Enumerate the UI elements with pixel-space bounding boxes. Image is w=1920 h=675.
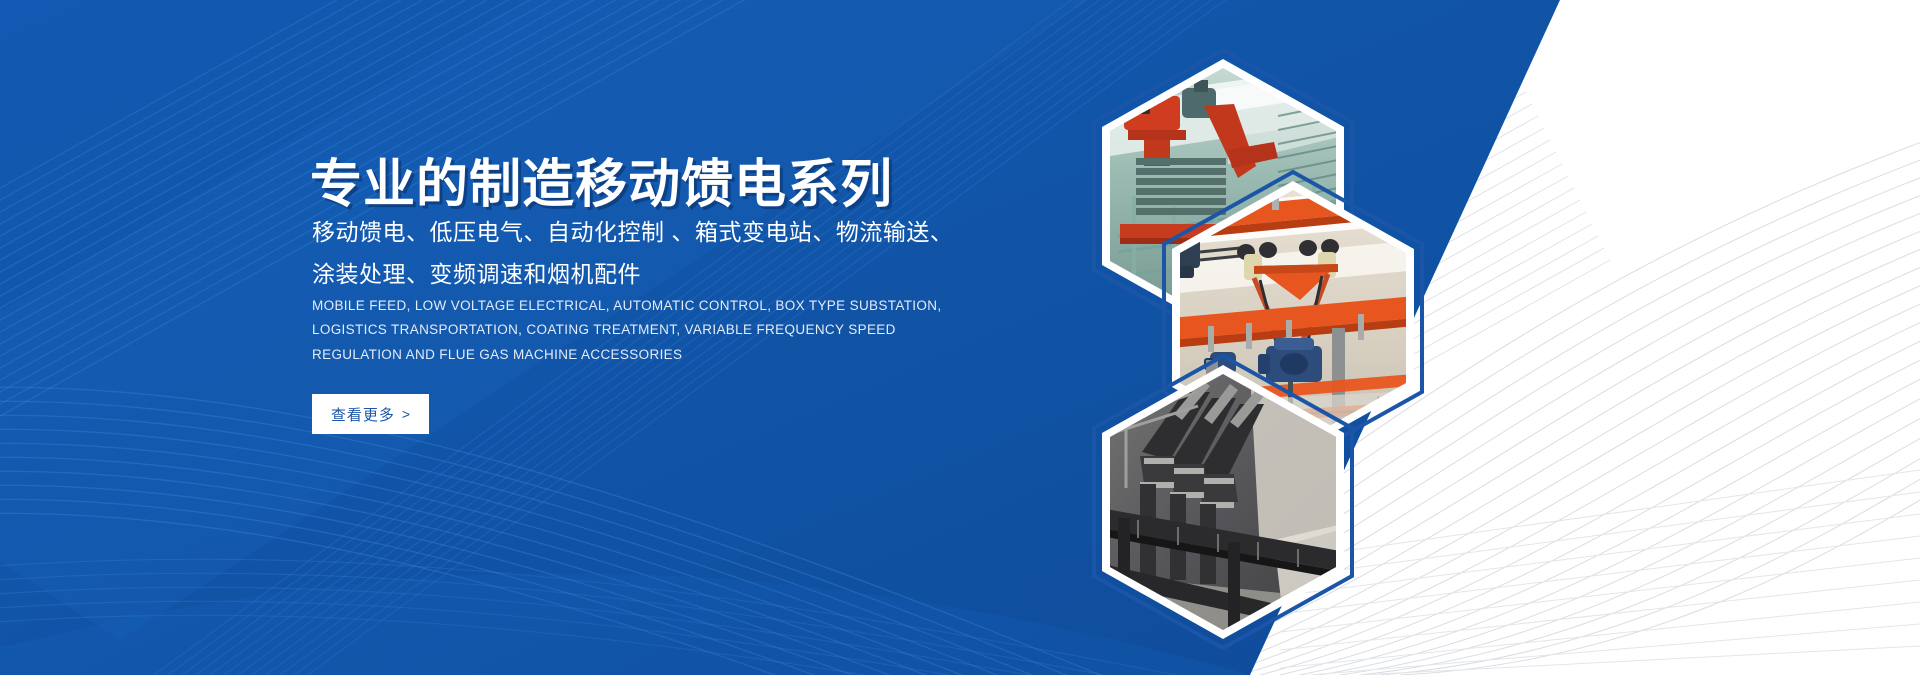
- view-more-label: 查看更多: [331, 404, 395, 425]
- blue-background-shape: [0, 0, 1920, 675]
- page-title: 专业的制造移动馈电系列: [310, 142, 893, 217]
- chevron-right-icon: >: [402, 406, 410, 422]
- subtitle-line-2: 涂装处理、变频调速和烟机配件: [312, 255, 641, 289]
- english-line-1: MOBILE FEED, LOW VOLTAGE ELECTRICAL, AUT…: [312, 298, 941, 313]
- view-more-button[interactable]: 查看更多 >: [312, 394, 429, 434]
- hero-banner: 专业的制造移动馈电系列 移动馈电、低压电气、自动化控制 、箱式变电站、物流输送、…: [0, 0, 1920, 675]
- english-line-3: REGULATION AND FLUE GAS MACHINE ACCESSOR…: [312, 347, 682, 362]
- cable-tray-raceway-photo: [1078, 352, 1368, 652]
- hexagon-image-3[interactable]: [1078, 352, 1368, 652]
- english-line-2: LOGISTICS TRANSPORTATION, COATING TREATM…: [312, 322, 896, 337]
- subtitle-line-1: 移动馈电、低压电气、自动化控制 、箱式变电站、物流输送、: [312, 213, 953, 247]
- hero-content: 专业的制造移动馈电系列 移动馈电、低压电气、自动化控制 、箱式变电站、物流输送、…: [310, 0, 950, 675]
